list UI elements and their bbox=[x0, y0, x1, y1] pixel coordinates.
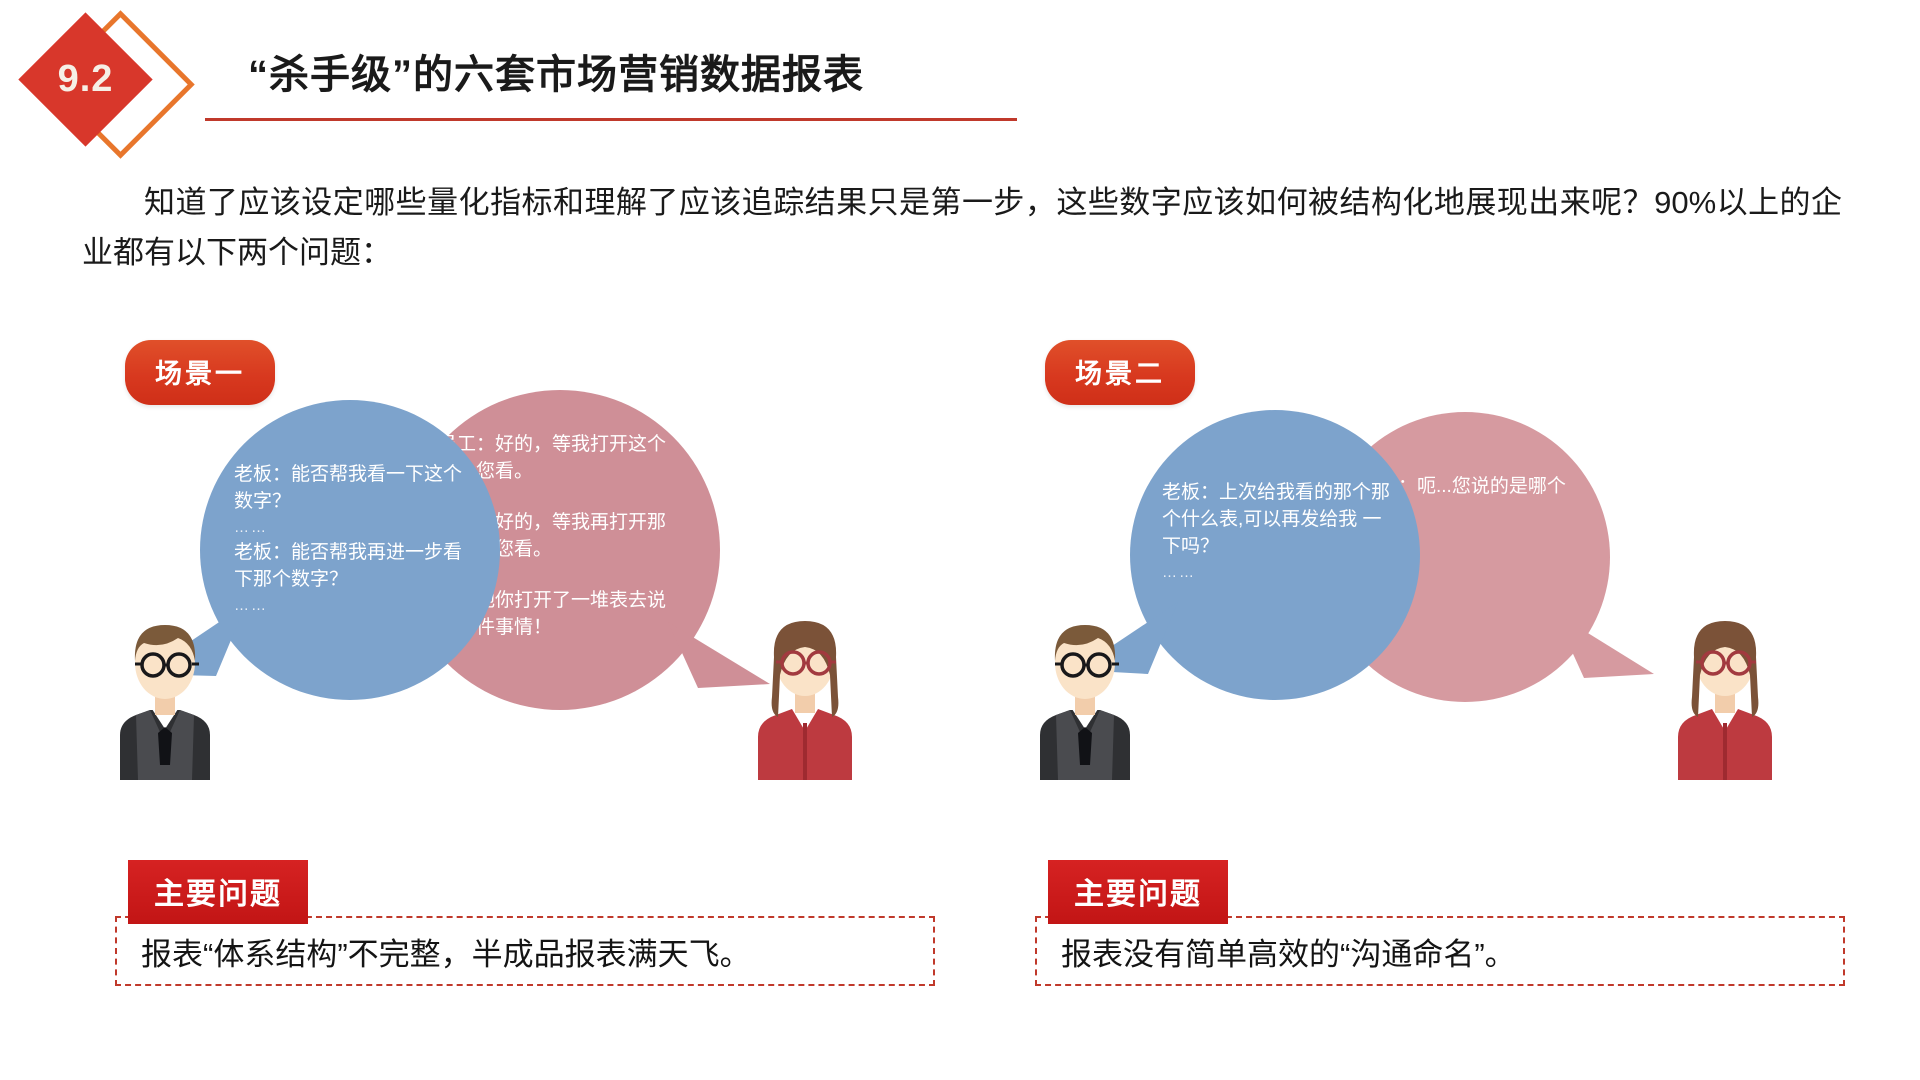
section-number-badge: 9.2 bbox=[20, 12, 170, 147]
staff-bubble-tail-icon bbox=[1544, 582, 1664, 692]
scene-two-problem: 主要问题 报表没有简单高效的“沟通命名”。 bbox=[1030, 860, 1875, 985]
boss-line-1: 老板：能否帮我看一下这个数字？ bbox=[234, 464, 462, 512]
staff-female-avatar bbox=[1660, 605, 1790, 780]
boss-speech-bubble: 老板：上次给我看的那个那个什么表,可以再发给我 一下吗？ …… bbox=[1130, 410, 1420, 700]
intro-paragraph: 知道了应该设定哪些量化指标和理解了应该追踪结果只是第一步，这些数字应该如何被结构… bbox=[82, 178, 1842, 278]
boss-male-avatar bbox=[1020, 605, 1150, 780]
main-problem-box: 报表“体系结构”不完整，半成品报表满天飞。 bbox=[115, 916, 935, 986]
scene-one-dialogue-stage: 员工：好的，等我打开这个表给您看。 …… 员工：好的，等我再打开那个表给您看。 … bbox=[100, 390, 960, 830]
scene-one-problem: 主要问题 报表“体系结构”不完整，半成品报表满天飞。 bbox=[110, 860, 955, 985]
section-number-label: 9.2 bbox=[38, 32, 133, 127]
boss-male-avatar bbox=[100, 605, 230, 780]
main-problem-text: 报表“体系结构”不完整，半成品报表满天飞。 bbox=[117, 929, 751, 974]
boss-dots-2: …… bbox=[234, 594, 464, 618]
main-problem-tag: 主要问题 bbox=[128, 860, 308, 924]
boss-speech-bubble: 老板：能否帮我看一下这个数字？ …… 老板：能否帮我再进一步看下那个数字？ …… bbox=[200, 400, 500, 700]
main-problem-tag: 主要问题 bbox=[1048, 860, 1228, 924]
scene-two-block: 场景二 员工：呃...您说的是哪个表？ …… 老板：上次给我看的那个那个什么表,… bbox=[1020, 340, 1880, 1040]
boss-line-2: 老板：能否帮我再进一步看下那个数字？ bbox=[234, 542, 462, 590]
scene-two-dialogue-stage: 员工：呃...您说的是哪个表？ …… 老板：上次给我看的那个那个什么表,可以再发… bbox=[1020, 390, 1880, 830]
slide-header: 9.2 “杀手级”的六套市场营销数据报表 bbox=[0, 0, 1920, 150]
boss-dots-1: …… bbox=[1162, 561, 1390, 585]
main-problem-text: 报表没有简单高效的“沟通命名”。 bbox=[1037, 929, 1516, 974]
boss-dots-1: …… bbox=[234, 516, 464, 540]
staff-female-avatar bbox=[740, 605, 870, 780]
scene-one-block: 场景一 员工：好的，等我打开这个表给您看。 …… 员工：好的，等我再打开那个表给… bbox=[100, 340, 960, 1040]
boss-bubble-text: 老板：上次给我看的那个那个什么表,可以再发给我 一下吗？ …… bbox=[1162, 480, 1390, 585]
title-underline-divider bbox=[205, 118, 1017, 121]
main-problem-box: 报表没有简单高效的“沟通命名”。 bbox=[1035, 916, 1845, 986]
page-title: “杀手级”的六套市场营销数据报表 bbox=[248, 42, 864, 100]
boss-line-1: 老板：上次给我看的那个那个什么表,可以再发给我 一下吗？ bbox=[1162, 482, 1390, 557]
boss-bubble-text: 老板：能否帮我看一下这个数字？ …… 老板：能否帮我再进一步看下那个数字？ …… bbox=[234, 462, 464, 618]
